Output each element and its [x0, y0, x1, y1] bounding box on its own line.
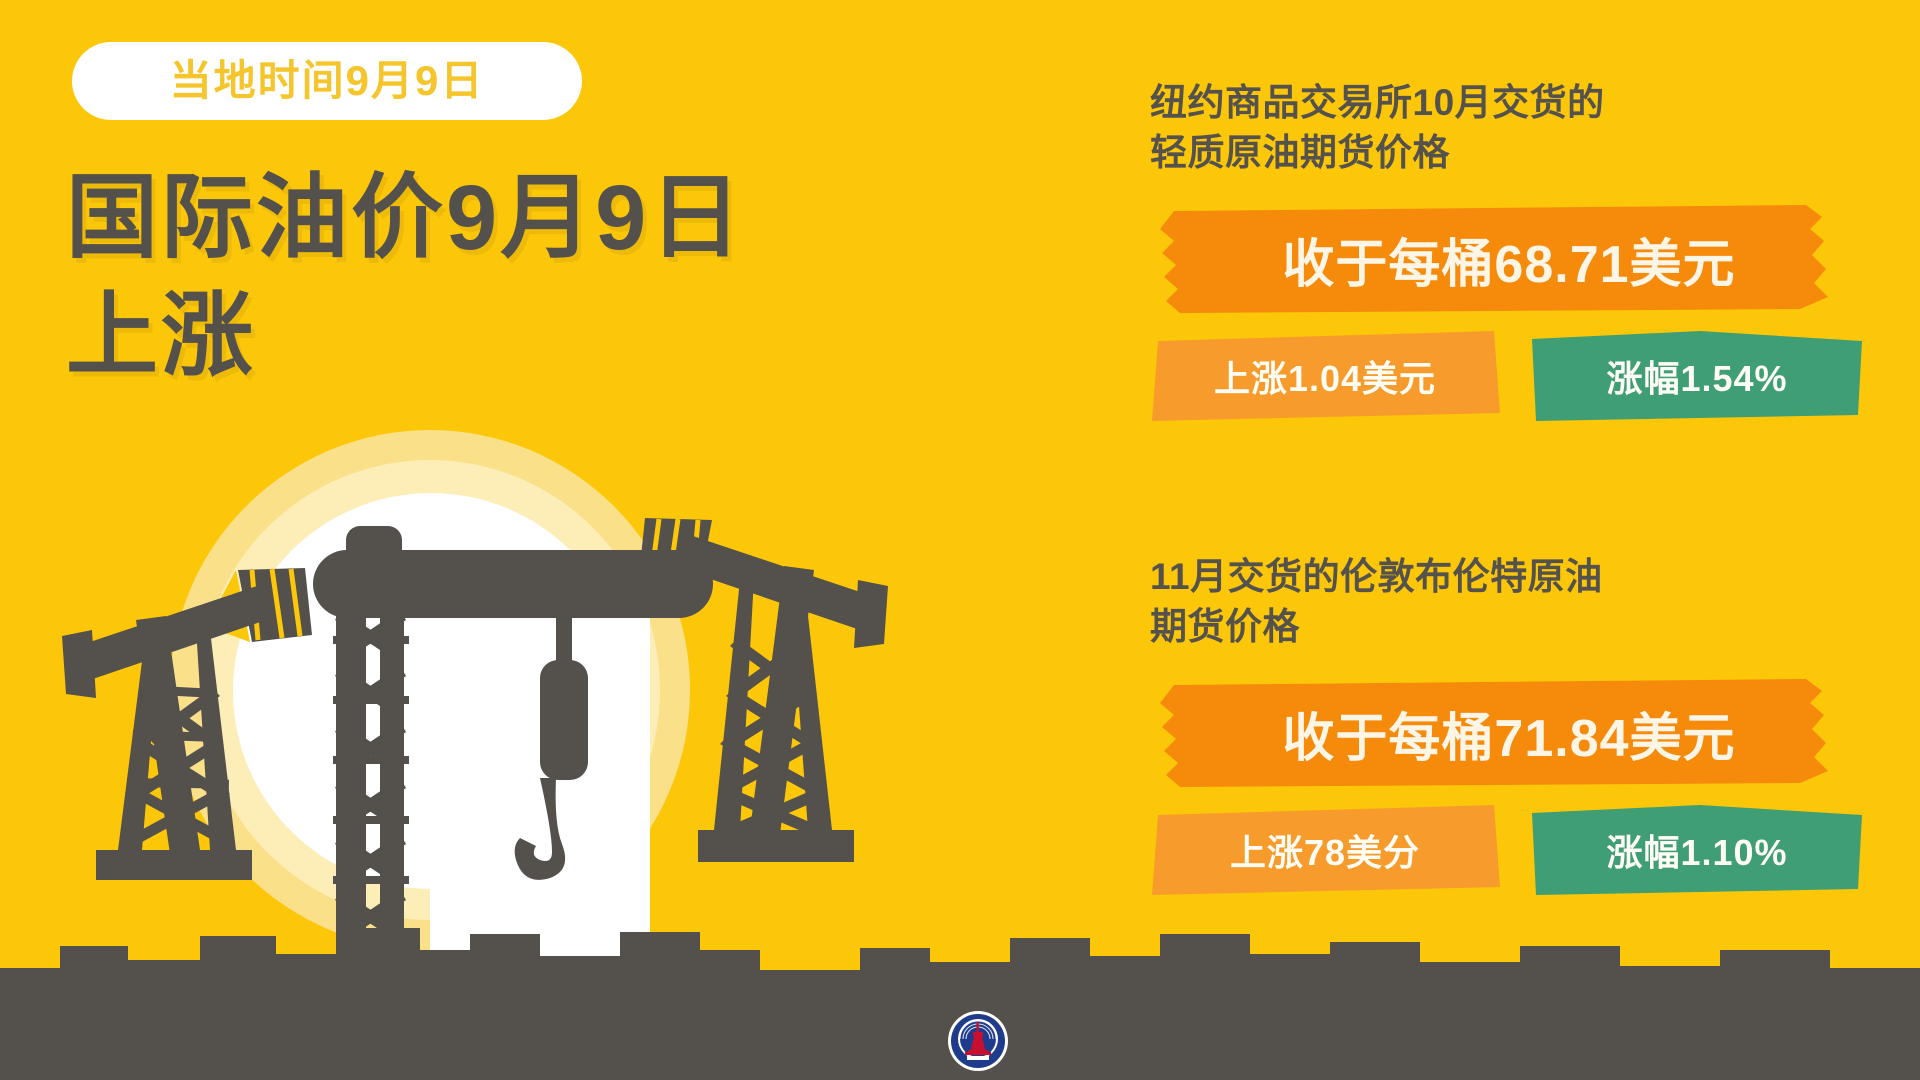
date-badge: 当地时间9月9日 [72, 42, 582, 120]
stat-caption-line-1: 纽约商品交易所10月交货的 [1150, 78, 1770, 128]
infographic-canvas: 当地时间9月9日 国际油价9月9日 上涨 [0, 0, 1920, 1080]
price-chip-row: 上涨78美分 涨幅1.10% [1150, 805, 1910, 895]
stat-group-brent: 11月交货的伦敦布伦特原油 期货价格 收于每桶71.84美元 上涨78美分 [1150, 552, 1920, 895]
pumpjack-left-icon [62, 568, 312, 880]
page-title: 国际油价9月9日 上涨 [66, 160, 886, 396]
percent-chip-label: 涨幅1.54% [1532, 331, 1862, 421]
price-banner: 收于每桶68.71美元 [1150, 203, 1850, 315]
stat-caption: 纽约商品交易所10月交货的 轻质原油期货价格 [1150, 78, 1770, 177]
stat-caption-line-2: 轻质原油期货价格 [1150, 128, 1770, 178]
change-chip-label: 上涨78美分 [1150, 805, 1500, 895]
change-chip: 上涨78美分 [1150, 805, 1500, 895]
stat-caption-line-1: 11月交货的伦敦布伦特原油 [1150, 552, 1770, 602]
stat-caption: 11月交货的伦敦布伦特原油 期货价格 [1150, 552, 1770, 651]
change-chip: 上涨1.04美元 [1150, 331, 1500, 421]
price-banner: 收于每桶71.84美元 [1150, 677, 1850, 789]
price-chip-row: 上涨1.04美元 涨幅1.54% [1150, 331, 1910, 421]
percent-chip-label: 涨幅1.10% [1532, 805, 1862, 895]
page-title-line-1: 国际油价9月9日 [66, 160, 886, 278]
xinhua-emblem-icon [947, 1010, 1009, 1072]
date-badge-label: 当地时间9月9日 [170, 60, 485, 102]
price-banner-label: 收于每桶71.84美元 [1150, 677, 1850, 789]
page-title-line-2: 上涨 [66, 278, 886, 396]
percent-chip: 涨幅1.54% [1532, 331, 1862, 421]
stat-caption-line-2: 期货价格 [1150, 602, 1770, 652]
price-banner-label: 收于每桶68.71美元 [1150, 203, 1850, 315]
change-chip-label: 上涨1.04美元 [1150, 331, 1500, 421]
percent-chip: 涨幅1.10% [1532, 805, 1862, 895]
stats-panel: 纽约商品交易所10月交货的 轻质原油期货价格 收于每桶68.71美元 上涨1.0… [1150, 0, 1920, 1080]
stat-group-wti: 纽约商品交易所10月交货的 轻质原油期货价格 收于每桶68.71美元 上涨1.0… [1150, 78, 1920, 421]
